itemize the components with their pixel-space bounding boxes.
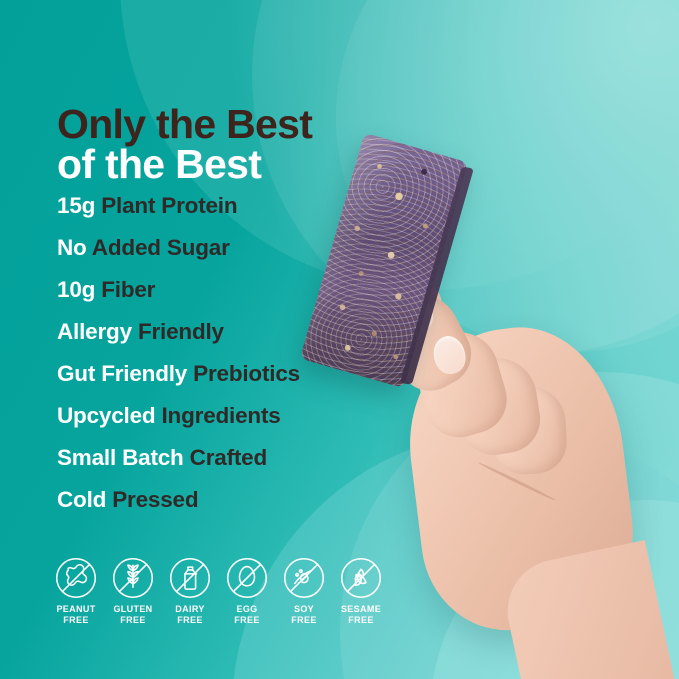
allergen-badge-label: PEANUTFREE — [56, 604, 95, 625]
benefit-item: Allergy Friendly — [57, 321, 397, 344]
allergen-badge-label: GLUTENFREE — [113, 604, 152, 625]
page-title: Only the Best of the Best — [57, 105, 387, 185]
benefit-text: Friendly — [132, 319, 224, 344]
benefit-text: Ingredients — [155, 403, 280, 428]
allergen-badge: EGGFREE — [223, 556, 271, 625]
allergen-badge-label-line-1: EGG — [234, 604, 259, 615]
headline-line-1: Only the Best — [57, 105, 387, 145]
dairy-free-icon — [168, 556, 212, 600]
benefit-highlight: Gut Friendly — [57, 361, 187, 386]
soy-free-icon — [282, 556, 326, 600]
allergen-badge: SESAMEFREE — [337, 556, 385, 625]
allergen-badge: GLUTENFREE — [109, 556, 157, 625]
benefit-item: Small Batch Crafted — [57, 447, 397, 470]
benefit-text: Crafted — [184, 445, 267, 470]
allergen-badge-label-line-2: FREE — [56, 615, 95, 626]
benefit-highlight: 10g — [57, 277, 95, 302]
allergen-badge: SOYFREE — [280, 556, 328, 625]
benefit-text: Plant Protein — [95, 193, 237, 218]
allergen-badge-label-line-1: SESAME — [341, 604, 381, 615]
promo-graphic: Only the Best of the Best 15g Plant Prot… — [0, 0, 679, 679]
benefit-highlight: Upcycled — [57, 403, 155, 428]
benefit-item: Upcycled Ingredients — [57, 405, 397, 428]
allergen-badge-label-line-2: FREE — [291, 615, 316, 626]
allergen-badge-row: PEANUTFREEGLUTENFREEDAIRYFREEEGGFREESOYF… — [52, 556, 397, 625]
allergen-badge-label-line-1: SOY — [291, 604, 316, 615]
gluten-free-icon — [111, 556, 155, 600]
egg-free-icon — [225, 556, 269, 600]
benefit-list: 15g Plant ProteinNo Added Sugar10g Fiber… — [57, 195, 397, 531]
benefit-item: 10g Fiber — [57, 279, 397, 302]
allergen-badge: PEANUTFREE — [52, 556, 100, 625]
headline-line-2: of the Best — [57, 145, 387, 185]
benefit-text: Fiber — [95, 277, 155, 302]
benefit-highlight: 15g — [57, 193, 95, 218]
allergen-badge-label-line-2: FREE — [113, 615, 152, 626]
allergen-badge-label: SOYFREE — [291, 604, 316, 625]
benefit-item: Gut Friendly Prebiotics — [57, 363, 397, 386]
allergen-badge-label-line-1: GLUTEN — [113, 604, 152, 615]
benefit-item: No Added Sugar — [57, 237, 397, 260]
allergen-badge-label: EGGFREE — [234, 604, 259, 625]
allergen-badge-label-line-2: FREE — [234, 615, 259, 626]
allergen-badge-label-line-2: FREE — [175, 615, 204, 626]
benefit-item: Cold Pressed — [57, 489, 397, 512]
allergen-badge-label: SESAMEFREE — [341, 604, 381, 625]
allergen-badge-label-line-1: PEANUT — [56, 604, 95, 615]
allergen-badge: DAIRYFREE — [166, 556, 214, 625]
allergen-badge-label-line-1: DAIRY — [175, 604, 204, 615]
peanut-free-icon — [54, 556, 98, 600]
benefit-highlight: Allergy — [57, 319, 132, 344]
benefit-highlight: Cold — [57, 487, 106, 512]
sesame-free-icon — [339, 556, 383, 600]
allergen-badge-label-line-2: FREE — [341, 615, 381, 626]
benefit-item: 15g Plant Protein — [57, 195, 397, 218]
allergen-badge-label: DAIRYFREE — [175, 604, 204, 625]
benefit-highlight: Small Batch — [57, 445, 184, 470]
benefit-text: Pressed — [106, 487, 198, 512]
benefit-highlight: No — [57, 235, 87, 260]
benefit-text: Added Sugar — [87, 235, 230, 260]
benefit-text: Prebiotics — [187, 361, 300, 386]
